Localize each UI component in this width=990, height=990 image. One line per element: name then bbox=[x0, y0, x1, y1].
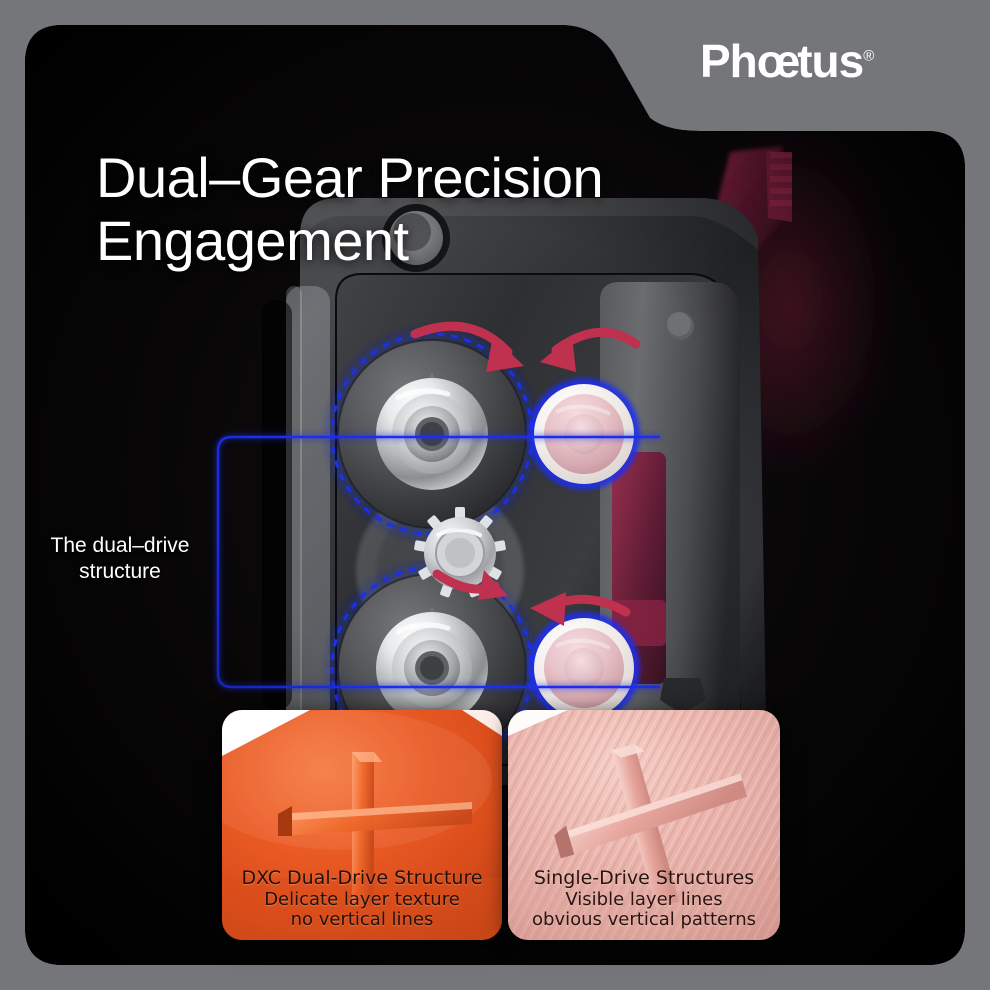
headline-line-1: Dual–Gear Precision bbox=[96, 146, 756, 209]
caption-right-line-3: obvious vertical patterns bbox=[508, 910, 780, 930]
headline-line-2: Engagement bbox=[96, 209, 756, 272]
comparison-card-dual-drive: DXC Dual-Drive Structure Delicate layer … bbox=[222, 710, 502, 940]
callout-label-line-1: The dual–drive bbox=[20, 533, 220, 559]
callout-label-line-2: structure bbox=[20, 559, 220, 585]
callout-label: The dual–drive structure bbox=[20, 533, 220, 586]
comparison-caption-right: Single-Drive Structures Visible layer li… bbox=[508, 868, 780, 930]
caption-left-line-3: no vertical lines bbox=[222, 910, 502, 930]
caption-right-line-2: Visible layer lines bbox=[508, 890, 780, 910]
caption-right-line-1: Single-Drive Structures bbox=[508, 868, 780, 889]
comparison-caption-left: DXC Dual-Drive Structure Delicate layer … bbox=[222, 868, 502, 930]
page-title: Dual–Gear Precision Engagement bbox=[96, 146, 756, 273]
comparison-card-single-drive: Single-Drive Structures Visible layer li… bbox=[508, 710, 780, 940]
caption-left-line-1: DXC Dual-Drive Structure bbox=[222, 868, 502, 889]
caption-left-line-2: Delicate layer texture bbox=[222, 890, 502, 910]
product-marketing-poster: Phœtus® Dual–Gear Precision Engagement T… bbox=[0, 0, 990, 990]
